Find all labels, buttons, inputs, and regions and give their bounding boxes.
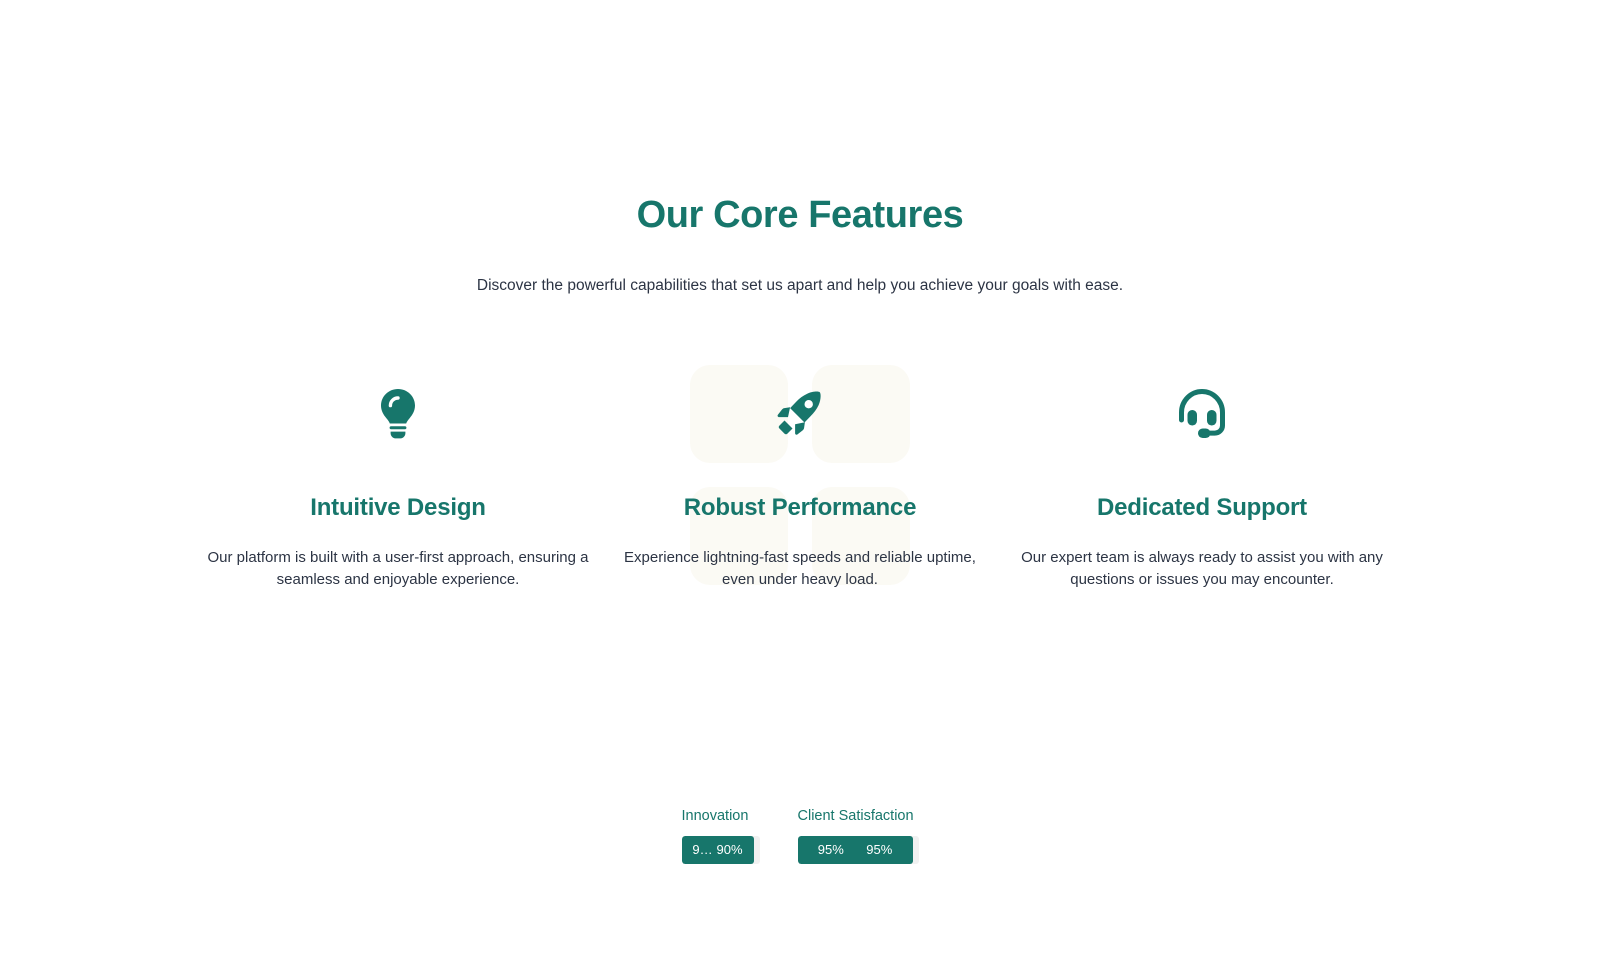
- section-header: Our Core Features Discover the powerful …: [0, 190, 1600, 297]
- feature-description: Our expert team is always ready to assis…: [1010, 547, 1395, 591]
- feature-description: Experience lightning-fast speeds and rel…: [608, 547, 993, 591]
- features-section-page: Our Core Features Discover the powerful …: [0, 0, 1600, 978]
- progress-value: 95%: [866, 841, 892, 859]
- feature-title: Intuitive Design: [310, 492, 486, 524]
- page-title: Our Core Features: [0, 190, 1600, 240]
- progress-value: 90%: [717, 841, 743, 859]
- progress-bar-innovation[interactable]: 9… 90%: [682, 836, 760, 864]
- feature-card-robust-performance: Robust Performance Experience lightning-…: [599, 360, 1001, 591]
- stat-label: Client Satisfaction: [798, 806, 914, 826]
- progress-bar-fill: 9… 90%: [682, 836, 754, 864]
- decorative-tile: [812, 365, 910, 463]
- stat-label: Innovation: [682, 806, 749, 826]
- headset-icon: [1175, 360, 1229, 465]
- feature-card-list: Intuitive Design Our platform is built w…: [0, 360, 1600, 591]
- progress-bar-client-satisfaction[interactable]: 95% 95%: [798, 836, 919, 864]
- stats-row: Innovation 9… 90% Client Satisfaction 95…: [0, 806, 1600, 864]
- progress-bar-fill: 95% 95%: [798, 836, 913, 864]
- progress-inner-label: 95%: [818, 841, 844, 859]
- feature-description: Our platform is built with a user-first …: [206, 547, 591, 591]
- stat-innovation: Innovation 9… 90%: [682, 806, 760, 864]
- lightbulb-icon: [375, 360, 421, 465]
- feature-card-intuitive-design: Intuitive Design Our platform is built w…: [197, 360, 599, 591]
- section-subtitle: Discover the powerful capabilities that …: [0, 275, 1600, 297]
- rocket-icon: [774, 360, 826, 465]
- feature-card-dedicated-support: Dedicated Support Our expert team is alw…: [1001, 360, 1403, 591]
- feature-title: Dedicated Support: [1097, 492, 1307, 524]
- feature-title: Robust Performance: [684, 492, 916, 524]
- stat-client-satisfaction: Client Satisfaction 95% 95%: [798, 806, 919, 864]
- progress-inner-label: 9…: [692, 841, 712, 859]
